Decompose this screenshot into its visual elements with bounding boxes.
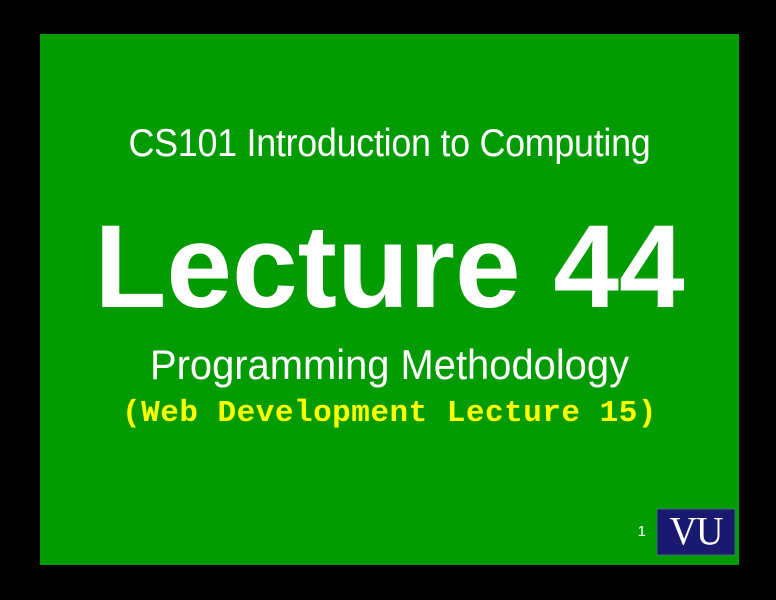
slide-canvas: CS101 Introduction to Computing Lecture … bbox=[40, 34, 739, 565]
vu-logo-text: VU bbox=[670, 512, 723, 552]
lecture-heading: Lecture 44 bbox=[40, 208, 739, 326]
subject-line: Programming Methodology bbox=[57, 344, 721, 386]
slide-root: CS101 Introduction to Computing Lecture … bbox=[0, 0, 776, 600]
vu-logo: VU bbox=[657, 509, 735, 555]
page-number: 1 bbox=[638, 524, 646, 541]
slide-footer: 1 VU bbox=[638, 509, 735, 555]
series-line: (Web Development Lecture 15) bbox=[40, 398, 739, 429]
course-title: CS101 Introduction to Computing bbox=[68, 124, 711, 163]
